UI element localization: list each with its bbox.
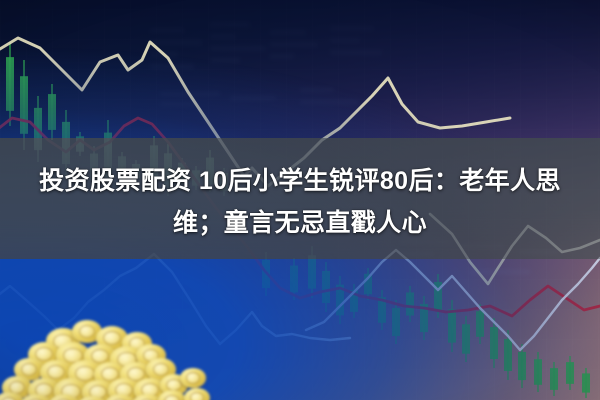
headline-line-1: 投资股票配资 10后小学生锐评80后：老年人思 (39, 167, 561, 195)
headline-line-2: 维；童言无忌直戳人心 (18, 202, 582, 244)
article-thumbnail: 投资股票配资 10后小学生锐评80后：老年人思 维；童言无忌直戳人心 (0, 0, 600, 400)
trendline-white-trendline-right (306, 250, 600, 350)
gold-coins-pile (0, 298, 234, 400)
article-headline: 投资股票配资 10后小学生锐评80后：老年人思 维；童言无忌直戳人心 (0, 160, 600, 244)
